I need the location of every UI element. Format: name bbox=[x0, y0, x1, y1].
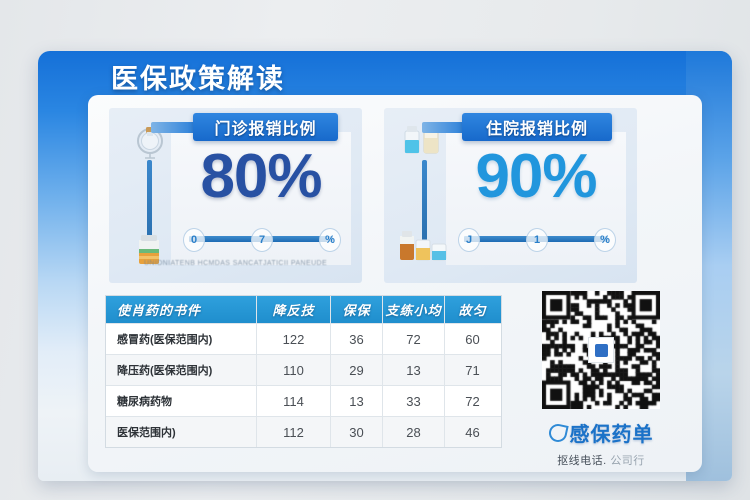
qr-block: 感保药单 抠线电话. 公司行 bbox=[525, 291, 677, 468]
cell-value: 13 bbox=[383, 355, 445, 385]
drug-reimbursement-table: 使肖药的书件 降反技 保保 支练小均 故匀 感冒药(医保范围内) 122 36 … bbox=[105, 295, 502, 448]
subtitle-main: 抠线电话. bbox=[557, 455, 607, 467]
content-card: 门诊报销比例 80% 0 7 % UNIDNIATENB HCMDAS SANC… bbox=[88, 95, 702, 472]
progress-track-inpatient[interactable]: J 1 % bbox=[458, 228, 614, 250]
screenshot-root: 医保政策解读 bbox=[0, 0, 750, 500]
brand-label: 感保药单 bbox=[570, 418, 654, 447]
cell-value: 46 bbox=[445, 417, 500, 447]
cell-value: 30 bbox=[331, 417, 383, 447]
tab-connector-stub bbox=[151, 122, 197, 133]
table-row: 医保范围内) 112 30 28 46 bbox=[106, 417, 501, 447]
cell-drug-name: 感冒药(医保范围内) bbox=[106, 324, 257, 354]
cell-value: 33 bbox=[383, 386, 445, 416]
pictogram-column-outpatient bbox=[127, 122, 171, 268]
percent-value-outpatient: 80% bbox=[171, 134, 351, 218]
ratio-card-outpatient: 门诊报销比例 80% 0 7 % UNIDNIATENB HCMDAS SANC… bbox=[109, 108, 362, 283]
cell-drug-name: 降压药(医保范围内) bbox=[106, 355, 257, 385]
subtitle-dim: 公司行 bbox=[610, 455, 645, 467]
progress-node-2[interactable]: 1 bbox=[526, 228, 548, 252]
percent-value-inpatient: 90% bbox=[446, 134, 626, 218]
column-header-3: 支练小均 bbox=[383, 296, 445, 323]
table-row: 糖尿病药物 114 13 33 72 bbox=[106, 386, 501, 417]
progress-node-2[interactable]: 7 bbox=[251, 228, 273, 252]
cell-drug-name: 糖尿病药物 bbox=[106, 386, 257, 416]
ratio-card-inpatient: 住院报销比例 90% J 1 % bbox=[384, 108, 637, 283]
column-header-4: 故匀 bbox=[445, 296, 500, 323]
medicine-bottles-icon bbox=[398, 226, 450, 262]
cell-value: 13 bbox=[331, 386, 383, 416]
progress-node-3[interactable]: % bbox=[319, 228, 341, 252]
cell-value: 110 bbox=[257, 355, 331, 385]
table-row: 降压药(医保范围内) 110 29 13 71 bbox=[106, 355, 501, 386]
cell-value: 72 bbox=[445, 386, 500, 416]
table-row: 感冒药(医保范围内) 122 36 72 60 bbox=[106, 324, 501, 355]
cell-value: 36 bbox=[331, 324, 383, 354]
column-header-2: 保保 bbox=[331, 296, 383, 323]
cell-value: 29 bbox=[331, 355, 383, 385]
cell-value: 60 bbox=[445, 324, 500, 354]
progress-node-1[interactable]: J bbox=[458, 228, 480, 252]
column-header-1: 降反技 bbox=[257, 296, 331, 323]
progress-node-1[interactable]: 0 bbox=[183, 228, 205, 252]
cell-drug-name: 医保范围内) bbox=[106, 417, 257, 447]
cell-value: 114 bbox=[257, 386, 331, 416]
pictogram-column-inpatient bbox=[402, 122, 446, 268]
progress-track-outpatient[interactable]: 0 7 % bbox=[183, 228, 339, 250]
ratio-caption-outpatient: UNIDNIATENB HCMDAS SANCATJATICII PANEUDE bbox=[119, 260, 352, 267]
qr-center-logo-icon bbox=[588, 337, 614, 363]
page-title: 医保政策解读 bbox=[111, 57, 285, 96]
column-header-name: 使肖药的书件 bbox=[106, 296, 257, 323]
progress-node-3[interactable]: % bbox=[594, 228, 616, 252]
brand-subtitle: 抠线电话. 公司行 bbox=[525, 452, 677, 468]
cell-value: 122 bbox=[257, 324, 331, 354]
qr-code[interactable] bbox=[542, 291, 660, 409]
cell-value: 71 bbox=[445, 355, 500, 385]
cell-value: 72 bbox=[383, 324, 445, 354]
cell-value: 112 bbox=[257, 417, 331, 447]
tab-connector-stub bbox=[422, 122, 466, 133]
leaf-icon bbox=[547, 422, 568, 443]
table-header-row: 使肖药的书件 降反技 保保 支练小均 故匀 bbox=[106, 296, 501, 324]
brand-name: 感保药单 bbox=[525, 418, 677, 447]
cell-value: 28 bbox=[383, 417, 445, 447]
